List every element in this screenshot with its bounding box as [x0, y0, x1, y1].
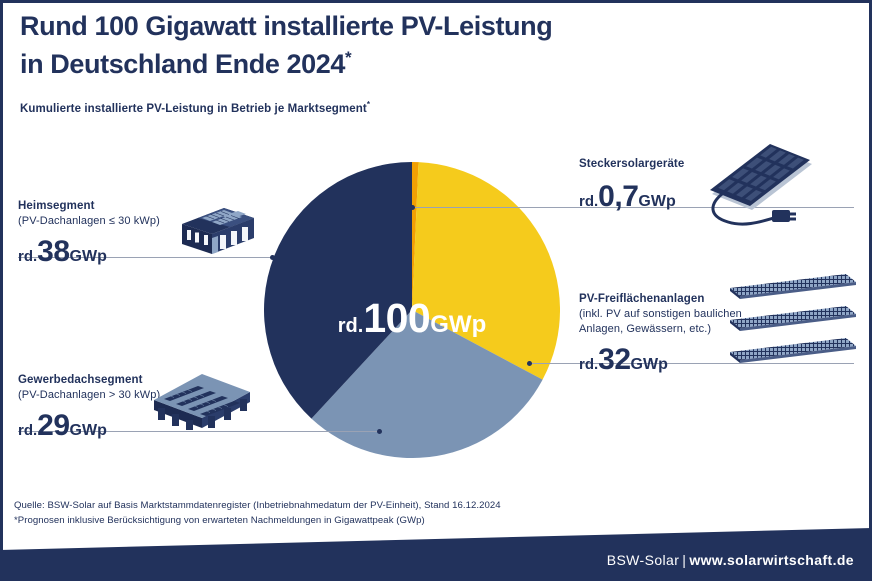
callout-heimsegment-title: Heimsegment	[18, 199, 193, 214]
title-line-1: Rund 100 Gigawatt installierte PV-Leistu…	[20, 11, 552, 41]
footer-bar: BSW-Solar|www.solarwirtschaft.de	[0, 528, 872, 581]
leader-dot-steckersolargeraete	[410, 205, 415, 210]
callout-heimsegment-subtitle: (PV-Dachanlagen ≤ 30 kWp)	[18, 214, 193, 229]
subtitle-text: Kumulierte installierte PV-Leistung in B…	[20, 103, 367, 115]
footer-url[interactable]: www.solarwirtschaft.de	[689, 552, 854, 568]
page-title: Rund 100 Gigawatt installierte PV-Leistu…	[20, 10, 660, 80]
callout-gewerbedachsegment-number: 29	[37, 409, 69, 442]
commercial-flat-roof-solar-icon	[146, 358, 258, 430]
callout-pv-freiflaechenanlagen-unit: GWp	[631, 356, 668, 373]
leader-dot-heimsegment	[270, 255, 275, 260]
leader-dot-pv-freiflaechenanlagen	[527, 361, 532, 366]
callout-pv-freiflaechenanlagen-number: 32	[598, 343, 630, 376]
callout-steckersolargeraete-prefix: rd.	[579, 193, 598, 210]
source-note: Quelle: BSW-Solar auf Basis Marktstammda…	[14, 498, 614, 528]
source-line-2: *Prognosen inklusive Berücksichtigung vo…	[14, 513, 614, 528]
callout-heimsegment-number: 38	[37, 235, 69, 268]
footer-separator: |	[682, 552, 686, 568]
infographic-page: Rund 100 Gigawatt installierte PV-Leistu…	[0, 0, 872, 581]
footer-brand: BSW-Solar	[607, 552, 680, 568]
leader-dot-gewerbedachsegment	[377, 429, 382, 434]
title-line-2: in Deutschland Ende 2024	[20, 49, 345, 79]
callout-gewerbedachsegment-unit: GWp	[70, 422, 107, 439]
callout-steckersolargeraete-unit: GWp	[638, 193, 675, 210]
callout-heimsegment-value: rd.38GWp	[18, 235, 193, 269]
subtitle-asterisk: *	[367, 100, 370, 109]
footer-branding: BSW-Solar|www.solarwirtschaft.de	[607, 552, 854, 568]
callout-heimsegment-prefix: rd.	[18, 248, 37, 265]
balcony-solar-panel-plug-icon	[700, 140, 820, 232]
ground-mounted-solar-rows-icon	[726, 272, 862, 368]
plug-glyph	[772, 210, 796, 222]
callout-heimsegment: Heimsegment (PV-Dachanlagen ≤ 30 kWp) rd…	[18, 199, 193, 269]
source-line-1: Quelle: BSW-Solar auf Basis Marktstammda…	[14, 498, 614, 513]
callout-heimsegment-unit: GWp	[70, 248, 107, 265]
callout-gewerbedachsegment-prefix: rd.	[18, 422, 37, 439]
title-asterisk: *	[345, 48, 351, 67]
house-with-solar-roof-icon	[168, 186, 268, 254]
page-subtitle: Kumulierte installierte PV-Leistung in B…	[20, 100, 660, 115]
callout-pv-freiflaechenanlagen-prefix: rd.	[579, 356, 598, 373]
callout-steckersolargeraete-number: 0,7	[598, 180, 638, 213]
